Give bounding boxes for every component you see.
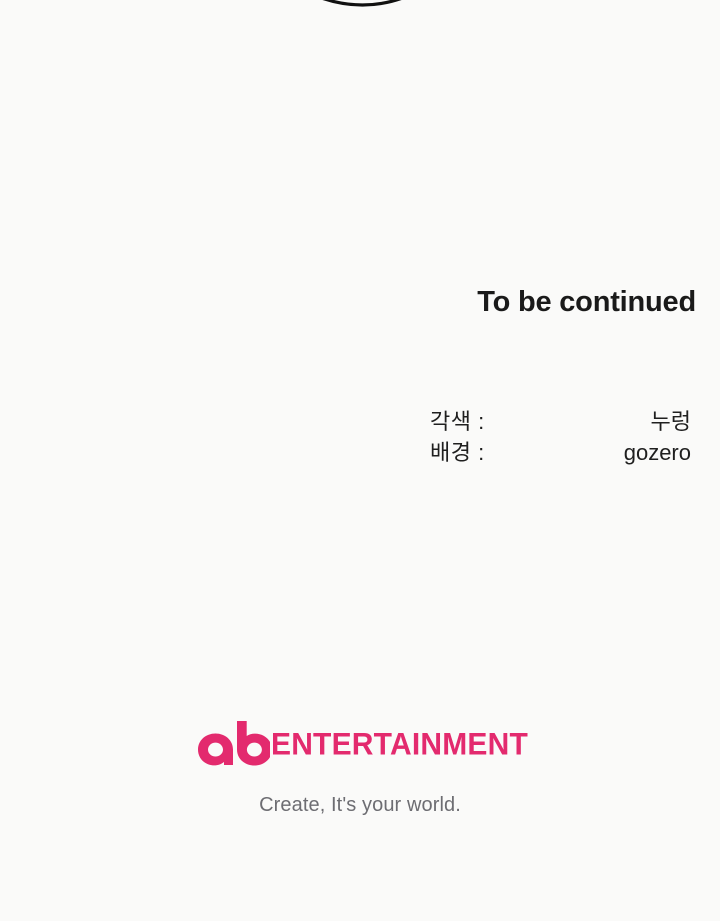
credit-label-adaptation: 각색 :	[430, 406, 485, 437]
speech-bubble-arc-icon	[0, 0, 720, 40]
credit-row: 각색 : 누렁	[430, 406, 691, 437]
to-be-continued-text: To be continued	[0, 286, 696, 319]
credits-block: 각색 : 누렁 배경 : gozero	[430, 406, 691, 468]
ab-logomark-icon	[192, 719, 270, 771]
studio-tagline: Create, It's your world.	[0, 795, 720, 815]
credit-value-background: gozero	[624, 437, 691, 468]
credit-value-adaptation: 누렁	[651, 406, 691, 437]
studio-footer: ENTERTAINMENT Create, It's your world.	[0, 716, 720, 815]
studio-logo-wordmark: ENTERTAINMENT	[271, 729, 528, 761]
webtoon-end-page: To be continued 각색 : 누렁 배경 : gozero ENTE…	[0, 0, 720, 921]
credit-label-background: 배경 :	[430, 437, 485, 468]
studio-logo: ENTERTAINMENT	[0, 716, 720, 774]
credit-row: 배경 : gozero	[430, 437, 691, 468]
